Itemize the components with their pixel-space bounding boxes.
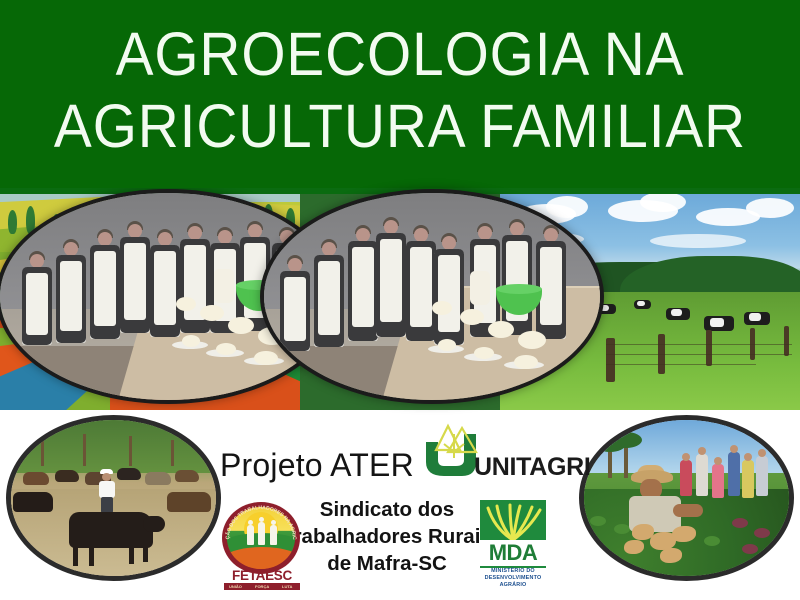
poster-header: AGROECOLOGIA NA AGRICULTURA FAMILIAR — [0, 0, 800, 188]
mda-ministry-logo: MDA MINISTÉRIO DO DESENVOLVIMENTO AGRÁRI… — [476, 500, 550, 592]
unitagri-label: UNITAGRI — [474, 453, 591, 482]
mda-subtitle: MINISTÉRIO DO DESENVOLVIMENTO AGRÁRIO — [476, 568, 550, 590]
mda-wordmark: MDA — [480, 540, 546, 566]
poster-footer: Projeto ATER UNITAGRI Sindicato dos Trab… — [0, 410, 800, 600]
svg-text:FEDERAÇÃO DOS TRABALHADORES NA: FEDERAÇÃO DOS TRABALHADORES NA AGRICULTU… — [222, 502, 297, 540]
harvest-farmer-photo — [584, 420, 789, 576]
poster-canvas: AGROECOLOGIA NA AGRICULTURA FAMILIAR — [0, 0, 800, 600]
page-title: AGROECOLOGIA NA AGRICULTURA FAMILIAR — [28, 18, 772, 162]
farmer-figure — [99, 479, 115, 513]
project-ater-row: Projeto ATER UNITAGRI — [218, 444, 578, 490]
fetaesc-ribbon-right: LUTA — [282, 584, 292, 589]
project-label: Projeto ATER — [220, 447, 414, 484]
cheese-photo-frame — [264, 193, 600, 400]
fetaesc-ribbon: UNIÃO FORÇA LUTA — [224, 583, 300, 590]
cattle-corral-photo — [11, 420, 216, 576]
fetaesc-ribbon-mid: FORÇA — [255, 584, 269, 589]
footer-logo-cluster: Projeto ATER UNITAGRI Sindicato dos Trab… — [218, 410, 578, 600]
fetaesc-wordmark: FETAESC — [216, 568, 308, 583]
fetaesc-circular-emblem: FEDERAÇÃO DOS TRABALHADORES NA AGRICULTU… — [216, 502, 308, 592]
fetaesc-ribbon-left: UNIÃO — [229, 584, 242, 589]
